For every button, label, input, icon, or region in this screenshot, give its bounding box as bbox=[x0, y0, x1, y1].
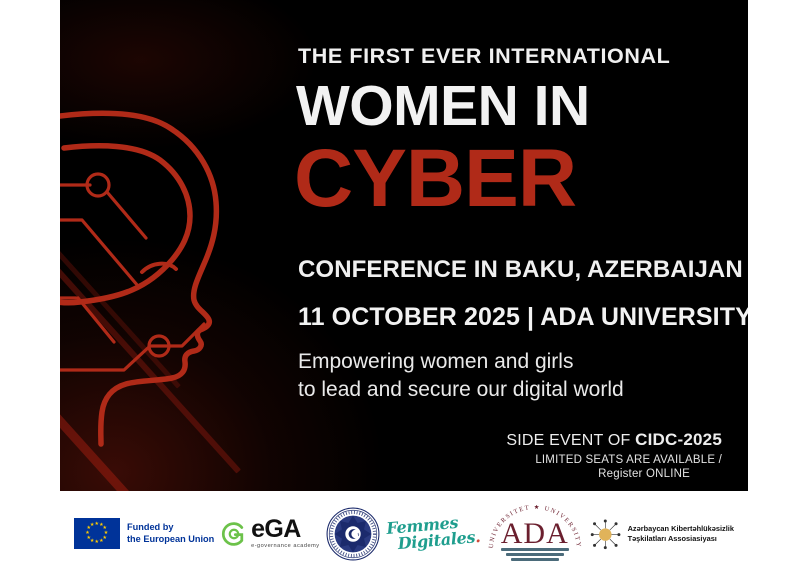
tagline: Empowering women and girls to lead and s… bbox=[298, 348, 624, 403]
ada-base-bars bbox=[501, 546, 569, 561]
acta-name-text: Azərbaycan Kibertəhlükəsizlik Təşkilatla… bbox=[628, 524, 734, 544]
eu-star-icon: ★ bbox=[87, 536, 91, 541]
side-event-code: CIDC-2025 bbox=[635, 430, 722, 449]
eu-star-icon: ★ bbox=[99, 539, 103, 544]
side-event-prefix: SIDE EVENT OF bbox=[506, 432, 635, 449]
register-online-text[interactable]: Register ONLINE bbox=[422, 468, 722, 480]
eu-flag-icon: ★★★★★★★★★★★★ bbox=[74, 518, 120, 549]
title-cyber: CYBER bbox=[294, 138, 576, 220]
eu-star-icon: ★ bbox=[95, 540, 99, 545]
kicker-line: THE FIRST EVER INTERNATIONAL bbox=[298, 44, 670, 69]
diagonal-stripe bbox=[60, 450, 214, 491]
logo-ministry-seal bbox=[326, 507, 380, 561]
acta-sun-network-icon bbox=[590, 517, 624, 551]
conference-line: CONFERENCE IN BAKU, AZERBAIJAN bbox=[298, 256, 743, 284]
side-event-line: SIDE EVENT OF CIDC-2025 bbox=[422, 430, 722, 450]
femmes-digitales-wordmark: Femmes Digitales. bbox=[386, 513, 481, 554]
eu-funding-text: Funded by the European Union bbox=[127, 522, 214, 546]
ega-wordmark-block: eGA e-governance academy bbox=[251, 518, 319, 550]
logo-femmes-digitales: Femmes Digitales. bbox=[387, 517, 480, 550]
logo-ada-university: UNIVERSITET ★ UNIVERSITY ADA bbox=[487, 505, 583, 563]
ada-logo-group: UNIVERSITET ★ UNIVERSITY ADA bbox=[487, 505, 583, 563]
femmes-line2: Digitales. bbox=[397, 529, 481, 552]
headline-block: THE FIRST EVER INTERNATIONAL WOMEN IN CY… bbox=[238, 0, 748, 491]
date-venue-line: 11 OCTOBER 2025 | ADA UNIVERSITY bbox=[298, 303, 748, 332]
ministry-seal-icon bbox=[326, 507, 380, 561]
ega-circle-icon bbox=[221, 521, 247, 547]
limited-seats-text: LIMITED SEATS ARE AVAILABLE / bbox=[422, 454, 722, 466]
poster-canvas: THE FIRST EVER INTERNATIONAL WOMEN IN CY… bbox=[0, 0, 800, 576]
sponsor-logo-strip: ★★★★★★★★★★★★ Funded by the European Unio… bbox=[60, 491, 748, 576]
logo-cybersecurity-association: Azərbaycan Kibertəhlükəsizlik Təşkilatla… bbox=[590, 517, 734, 551]
logo-ega: eGA e-governance academy bbox=[221, 518, 319, 550]
ega-subtitle: e-governance academy bbox=[251, 543, 319, 549]
ada-wordmark: ADA bbox=[487, 519, 583, 549]
hero-panel: THE FIRST EVER INTERNATIONAL WOMEN IN CY… bbox=[60, 0, 748, 491]
ega-wordmark: eGA bbox=[251, 518, 319, 542]
title-women-in: WOMEN IN bbox=[296, 78, 590, 135]
side-event-block: SIDE EVENT OF CIDC-2025 LIMITED SEATS AR… bbox=[422, 430, 722, 480]
eu-star-icon: ★ bbox=[90, 523, 94, 528]
eu-star-icon: ★ bbox=[85, 531, 89, 536]
logo-european-union: ★★★★★★★★★★★★ Funded by the European Unio… bbox=[74, 518, 214, 549]
